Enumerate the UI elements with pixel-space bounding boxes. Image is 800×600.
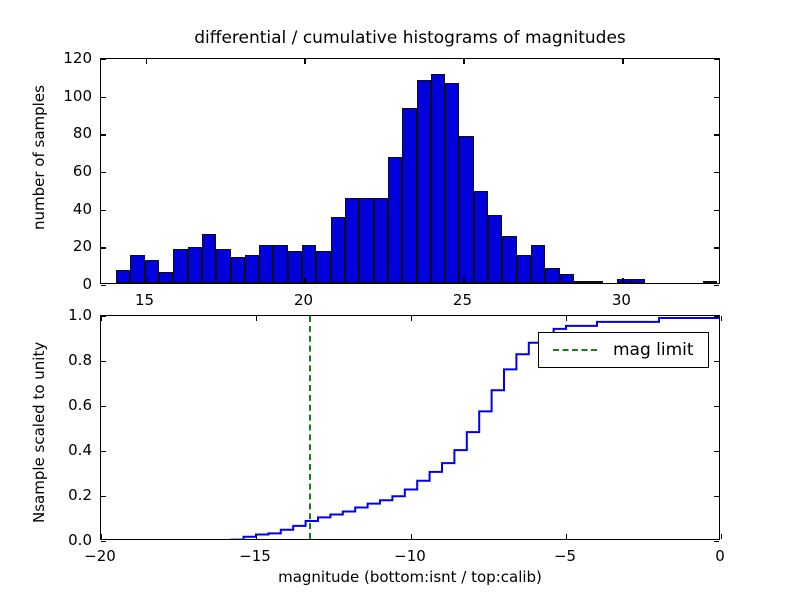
histogram-bar bbox=[202, 234, 216, 283]
x-tick-label: 30 bbox=[612, 291, 631, 309]
x-tick-upper bbox=[411, 316, 412, 321]
histogram-bar bbox=[402, 108, 416, 283]
y-tick bbox=[101, 406, 106, 407]
x-tick-label: 20 bbox=[294, 291, 313, 309]
histogram-bar bbox=[188, 247, 202, 283]
histogram-bar bbox=[273, 245, 287, 283]
histogram-bar bbox=[502, 236, 516, 283]
x-tick-label: 15 bbox=[135, 291, 154, 309]
cumulative-histogram-axes: mag limit bbox=[100, 315, 720, 540]
bottom-axes-xlabel: magnitude (bottom:isnt / top:calib) bbox=[100, 568, 720, 586]
x-tick-upper bbox=[622, 59, 623, 64]
y-tick bbox=[101, 134, 106, 135]
x-tick-label: 25 bbox=[453, 291, 472, 309]
histogram-bar bbox=[574, 281, 588, 283]
histogram-bars-layer bbox=[101, 59, 719, 283]
histogram-bar bbox=[359, 198, 373, 283]
histogram-bar bbox=[531, 245, 545, 283]
y-tick-label: 80 bbox=[42, 124, 92, 142]
histogram-bar bbox=[116, 270, 130, 283]
x-tick-upper bbox=[463, 59, 464, 64]
histogram-bar bbox=[388, 157, 402, 283]
histogram-bar bbox=[459, 136, 473, 283]
y-tick-right bbox=[714, 97, 719, 98]
figure-title: differential / cumulative histograms of … bbox=[100, 28, 720, 48]
histogram-bar bbox=[374, 198, 388, 283]
x-tick-upper bbox=[146, 59, 147, 64]
y-tick-right bbox=[714, 134, 719, 135]
x-tick-label: −20 bbox=[84, 547, 116, 565]
y-tick-label: 20 bbox=[42, 237, 92, 255]
histogram-bar bbox=[345, 198, 359, 283]
x-tick bbox=[411, 534, 412, 539]
y-tick bbox=[101, 451, 106, 452]
y-tick-label: 0 bbox=[42, 275, 92, 293]
y-tick bbox=[101, 316, 106, 317]
histogram-bar bbox=[231, 257, 245, 283]
y-tick-right bbox=[714, 285, 719, 286]
y-tick-label: 100 bbox=[42, 87, 92, 105]
x-tick bbox=[304, 278, 305, 283]
y-tick bbox=[101, 285, 106, 286]
y-tick bbox=[101, 172, 106, 173]
y-tick-label: 0.6 bbox=[42, 396, 92, 414]
histogram-bar bbox=[417, 80, 431, 283]
x-tick-upper bbox=[721, 316, 722, 321]
x-tick bbox=[463, 278, 464, 283]
y-tick-right bbox=[714, 496, 719, 497]
y-tick-right bbox=[714, 59, 719, 60]
mag-limit-vertical-line bbox=[309, 316, 311, 539]
y-tick-label: 0.4 bbox=[42, 441, 92, 459]
y-tick-label: 1.0 bbox=[42, 306, 92, 324]
y-tick-right bbox=[714, 247, 719, 248]
x-tick-label: −5 bbox=[554, 547, 576, 565]
histogram-bar bbox=[703, 281, 717, 283]
y-tick-label: 40 bbox=[42, 200, 92, 218]
y-tick bbox=[101, 97, 106, 98]
histogram-bar bbox=[216, 249, 230, 283]
histogram-bar bbox=[545, 268, 559, 283]
y-tick-right bbox=[714, 541, 719, 542]
legend-entry-label: mag limit bbox=[613, 340, 694, 360]
histogram-bar bbox=[445, 83, 459, 283]
histogram-bar bbox=[245, 255, 259, 283]
histogram-bar bbox=[631, 279, 645, 283]
x-tick bbox=[101, 534, 102, 539]
y-tick-right bbox=[714, 361, 719, 362]
y-tick-right bbox=[714, 316, 719, 317]
y-tick-label: 60 bbox=[42, 162, 92, 180]
legend-box[interactable]: mag limit bbox=[538, 332, 709, 368]
histogram-bar bbox=[431, 74, 445, 283]
y-tick-right bbox=[714, 406, 719, 407]
y-tick bbox=[101, 59, 106, 60]
x-tick-label: −15 bbox=[239, 547, 271, 565]
histogram-bar bbox=[145, 260, 159, 283]
histogram-bar bbox=[488, 215, 502, 283]
histogram-bar bbox=[474, 191, 488, 283]
histogram-bar bbox=[159, 272, 173, 283]
x-tick bbox=[622, 278, 623, 283]
matplotlib-figure: differential / cumulative histograms of … bbox=[0, 0, 800, 600]
bottom-axes-ylabel: Nsample scaled to unity bbox=[30, 342, 48, 523]
top-axes-ylabel: number of samples bbox=[30, 85, 48, 230]
differential-histogram-axes bbox=[100, 58, 720, 284]
y-tick bbox=[101, 541, 106, 542]
x-tick-label: 0 bbox=[715, 547, 725, 565]
y-tick-label: 0.8 bbox=[42, 351, 92, 369]
histogram-bar bbox=[517, 255, 531, 283]
x-tick-upper bbox=[304, 59, 305, 64]
mag-limit-dashed-line-icon bbox=[553, 349, 597, 351]
histogram-bar bbox=[130, 255, 144, 283]
x-tick bbox=[566, 534, 567, 539]
y-tick bbox=[101, 210, 106, 211]
histogram-bar bbox=[588, 281, 602, 283]
histogram-bar bbox=[288, 251, 302, 283]
histogram-bar bbox=[173, 249, 187, 283]
x-tick-upper bbox=[566, 316, 567, 321]
y-tick bbox=[101, 247, 106, 248]
y-tick-right bbox=[714, 451, 719, 452]
y-tick bbox=[101, 361, 106, 362]
x-tick-label: −10 bbox=[394, 547, 426, 565]
x-tick bbox=[256, 534, 257, 539]
x-tick bbox=[146, 278, 147, 283]
y-tick-right bbox=[714, 210, 719, 211]
x-tick-upper bbox=[256, 316, 257, 321]
histogram-bar bbox=[560, 274, 574, 283]
histogram-bar bbox=[259, 245, 273, 283]
y-tick-label: 0.2 bbox=[42, 486, 92, 504]
histogram-bar bbox=[316, 251, 330, 283]
histogram-bar bbox=[617, 279, 631, 283]
x-tick bbox=[721, 534, 722, 539]
y-tick-label: 0.0 bbox=[42, 531, 92, 549]
y-tick bbox=[101, 496, 106, 497]
y-tick-label: 120 bbox=[42, 49, 92, 67]
histogram-bar bbox=[331, 217, 345, 283]
y-tick-right bbox=[714, 172, 719, 173]
